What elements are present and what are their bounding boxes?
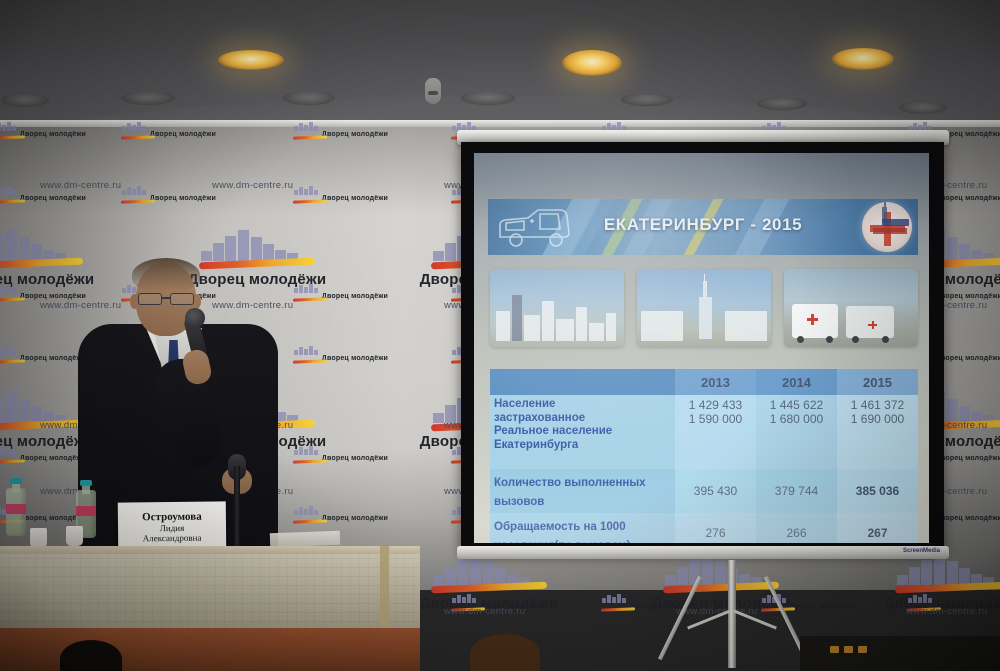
smoke-detector-icon [425,78,441,104]
row-label-population: Население застрахованное Реальное населе… [490,395,675,469]
logo-caption: Дворец молодёжи [322,515,388,522]
placard-first-name: Лидия [160,523,185,533]
ceiling-light-off-7 [898,100,948,115]
ceiling-light-on-1 [218,50,284,70]
ceiling [0,0,1000,126]
statistics-table: 2013 2014 2015 Население застрахованное … [490,369,918,543]
backdrop-rail [0,120,1000,127]
logo-swoosh [121,199,155,203]
backdrop-logo-small: Дворец молодёжи [292,452,388,464]
ceiling-light-on-2 [562,50,622,76]
row-label-calls: Количество выполненных вызовов [490,469,675,513]
ceiling-light-off-2 [120,90,176,106]
logo-caption: Дворец молодёжи [322,293,388,300]
ceiling-light-on-3 [832,48,894,70]
logo-mark [0,352,17,364]
backdrop-logo-small: Дворец молодёжи [292,290,388,302]
logo-caption: Дворец молодёжи [936,195,1000,202]
cell-calls-2013: 395 430 [675,469,756,513]
screen-frame: ЕКАТЕРИНБУРГ - 2015 [461,142,944,554]
placard-surname: Остроумова [142,511,202,524]
backdrop-logo-small: Дворец молодёжи [292,128,388,140]
ceiling-light-off-6 [756,96,808,111]
backdrop-url: www.dm-centre.ru [906,606,987,617]
logo-caption: Дворец молодёжи [790,603,856,610]
cell-rate-2013: 276 [675,513,756,543]
table-row: Количество выполненных вызовов 395 430 3… [490,469,918,513]
logo-mark [292,128,319,140]
equipment-rack [800,636,1000,671]
screen-tripod-stand [672,560,792,668]
ceiling-light-off-5 [620,92,674,107]
logo-mark [120,192,147,204]
cell-population-2013: 1 429 433 1 590 000 [675,395,756,469]
photo-administration-building [637,269,771,347]
logo-caption: Дворец молодёжи [936,455,1000,462]
logo-mark [0,128,17,140]
logo-mark [292,512,319,524]
table-header-2014: 2014 [756,369,837,395]
logo-swoosh [293,459,327,463]
logo-swoosh [293,359,327,363]
logo-swoosh [121,135,155,139]
logo-swoosh [0,459,25,463]
logo-mark [292,352,319,364]
slide-photo-row [490,269,918,347]
speaker-glasses [138,290,194,302]
logo-mark [292,192,319,204]
conference-photo: Дворец молодёжиДворец молодёжиДворец мол… [0,0,1000,671]
logo-mark [292,290,319,302]
paper-cup [30,528,47,548]
screen-surface: ЕКАТЕРИНБУРГ - 2015 [474,153,929,543]
logo-mark [0,192,17,204]
logo-caption: Дворец молодёжи [936,355,1000,362]
logo-swoosh [0,297,25,301]
cell-population-2014: 1 445 622 1 680 000 [756,395,837,469]
photo-city-skyline [490,269,624,347]
cell-rate-2014: 266 [756,513,837,543]
water-bottle [6,478,26,536]
audience-head-foreground [60,640,122,671]
logo-caption: Дворец молодёжи [322,355,388,362]
logo-caption: Дворец молодёжи [936,515,1000,522]
backdrop-logo-small: Дворец молодёжи [292,512,388,524]
ceiling-light-off-4 [460,90,516,106]
backdrop-url: www.dm-centre.ru [40,180,121,191]
cell-calls-2015: 385 036 [837,469,918,513]
logo-caption: Дворец молодёжи [322,195,388,202]
speaker-hair [132,258,200,292]
backdrop-url: www.dm-centre.ru [212,180,293,191]
logo-caption: Дворец молодёжи [20,195,86,202]
table-header-2015: 2015 [837,369,918,395]
paper-cup [66,526,83,546]
screen-bottom-bar: ScreenMedia [457,546,949,559]
projection-screen: ЕКАТЕРИНБУРГ - 2015 [461,142,944,567]
logo-caption: Дворец молодёжи [936,293,1000,300]
table-row: Население застрахованное Реальное населе… [490,395,918,469]
backdrop-url: www.dm-centre.ru [444,606,525,617]
presentation-slide: ЕКАТЕРИНБУРГ - 2015 [474,153,929,543]
logo-mark [120,128,147,140]
table-microphone-stand [234,466,240,552]
placard-patronymic: Александровна [143,533,202,544]
logo-caption: Дворец молодёжи [322,455,388,462]
backdrop-logo-small: Дворец молодёжи [0,192,86,204]
logo-swoosh [293,297,327,301]
backdrop-logo-small: Дворец молодёжи [120,192,216,204]
slide-title: ЕКАТЕРИНБУРГ - 2015 [488,215,918,235]
backdrop-logo-small: Дворец молодёжи [0,128,86,140]
microphone-head-icon [185,308,205,328]
logo-caption: Дворец молодёжи [322,131,388,138]
emergency-service-badge-icon [862,202,912,252]
logo-mark [0,452,17,464]
table-header-2013: 2013 [675,369,756,395]
logo-swoosh [293,199,327,203]
cell-rate-2015: 267 [837,513,918,543]
logo-caption: Дворец молодёжи [150,131,216,138]
cell-calls-2014: 379 744 [756,469,837,513]
backdrop-logo-small: Дворец молодёжи [292,192,388,204]
logo-caption: Дворец молодёжи [20,131,86,138]
slide-title-banner: ЕКАТЕРИНБУРГ - 2015 [488,199,918,255]
audience-head-foreground [470,634,540,671]
logo-mark [292,452,319,464]
name-placard: Остроумова Лидия Александровна [118,501,227,552]
photo-ambulance-fleet [784,269,918,347]
documents-on-table [270,531,340,547]
logo-mark [0,290,17,302]
ceiling-light-off-3 [282,90,336,106]
ceiling-light-off-1 [0,92,50,108]
logo-mark [600,600,627,612]
table-header-row: 2013 2014 2015 [490,369,918,395]
cell-population-2015: 1 461 372 1 690 000 [837,395,918,469]
table-header-blank [490,369,675,395]
table-row: Обращаемость на 1000 населения(по вызова… [490,513,918,543]
logo-caption: Дворец молодёжи [150,195,216,202]
logo-swoosh [293,135,327,139]
backdrop-logo-small: Дворец молодёжи [292,352,388,364]
logo-swoosh [601,607,635,611]
row-label-rate: Обращаемость на 1000 населения(по вызова… [490,513,675,543]
logo-swoosh [0,199,25,203]
logo-swoosh [0,359,25,363]
screen-brand-label: ScreenMedia [903,548,940,554]
backdrop-logo-small: Дворец молодёжи [120,128,216,140]
logo-swoosh [293,519,327,523]
logo-swoosh [0,135,25,139]
